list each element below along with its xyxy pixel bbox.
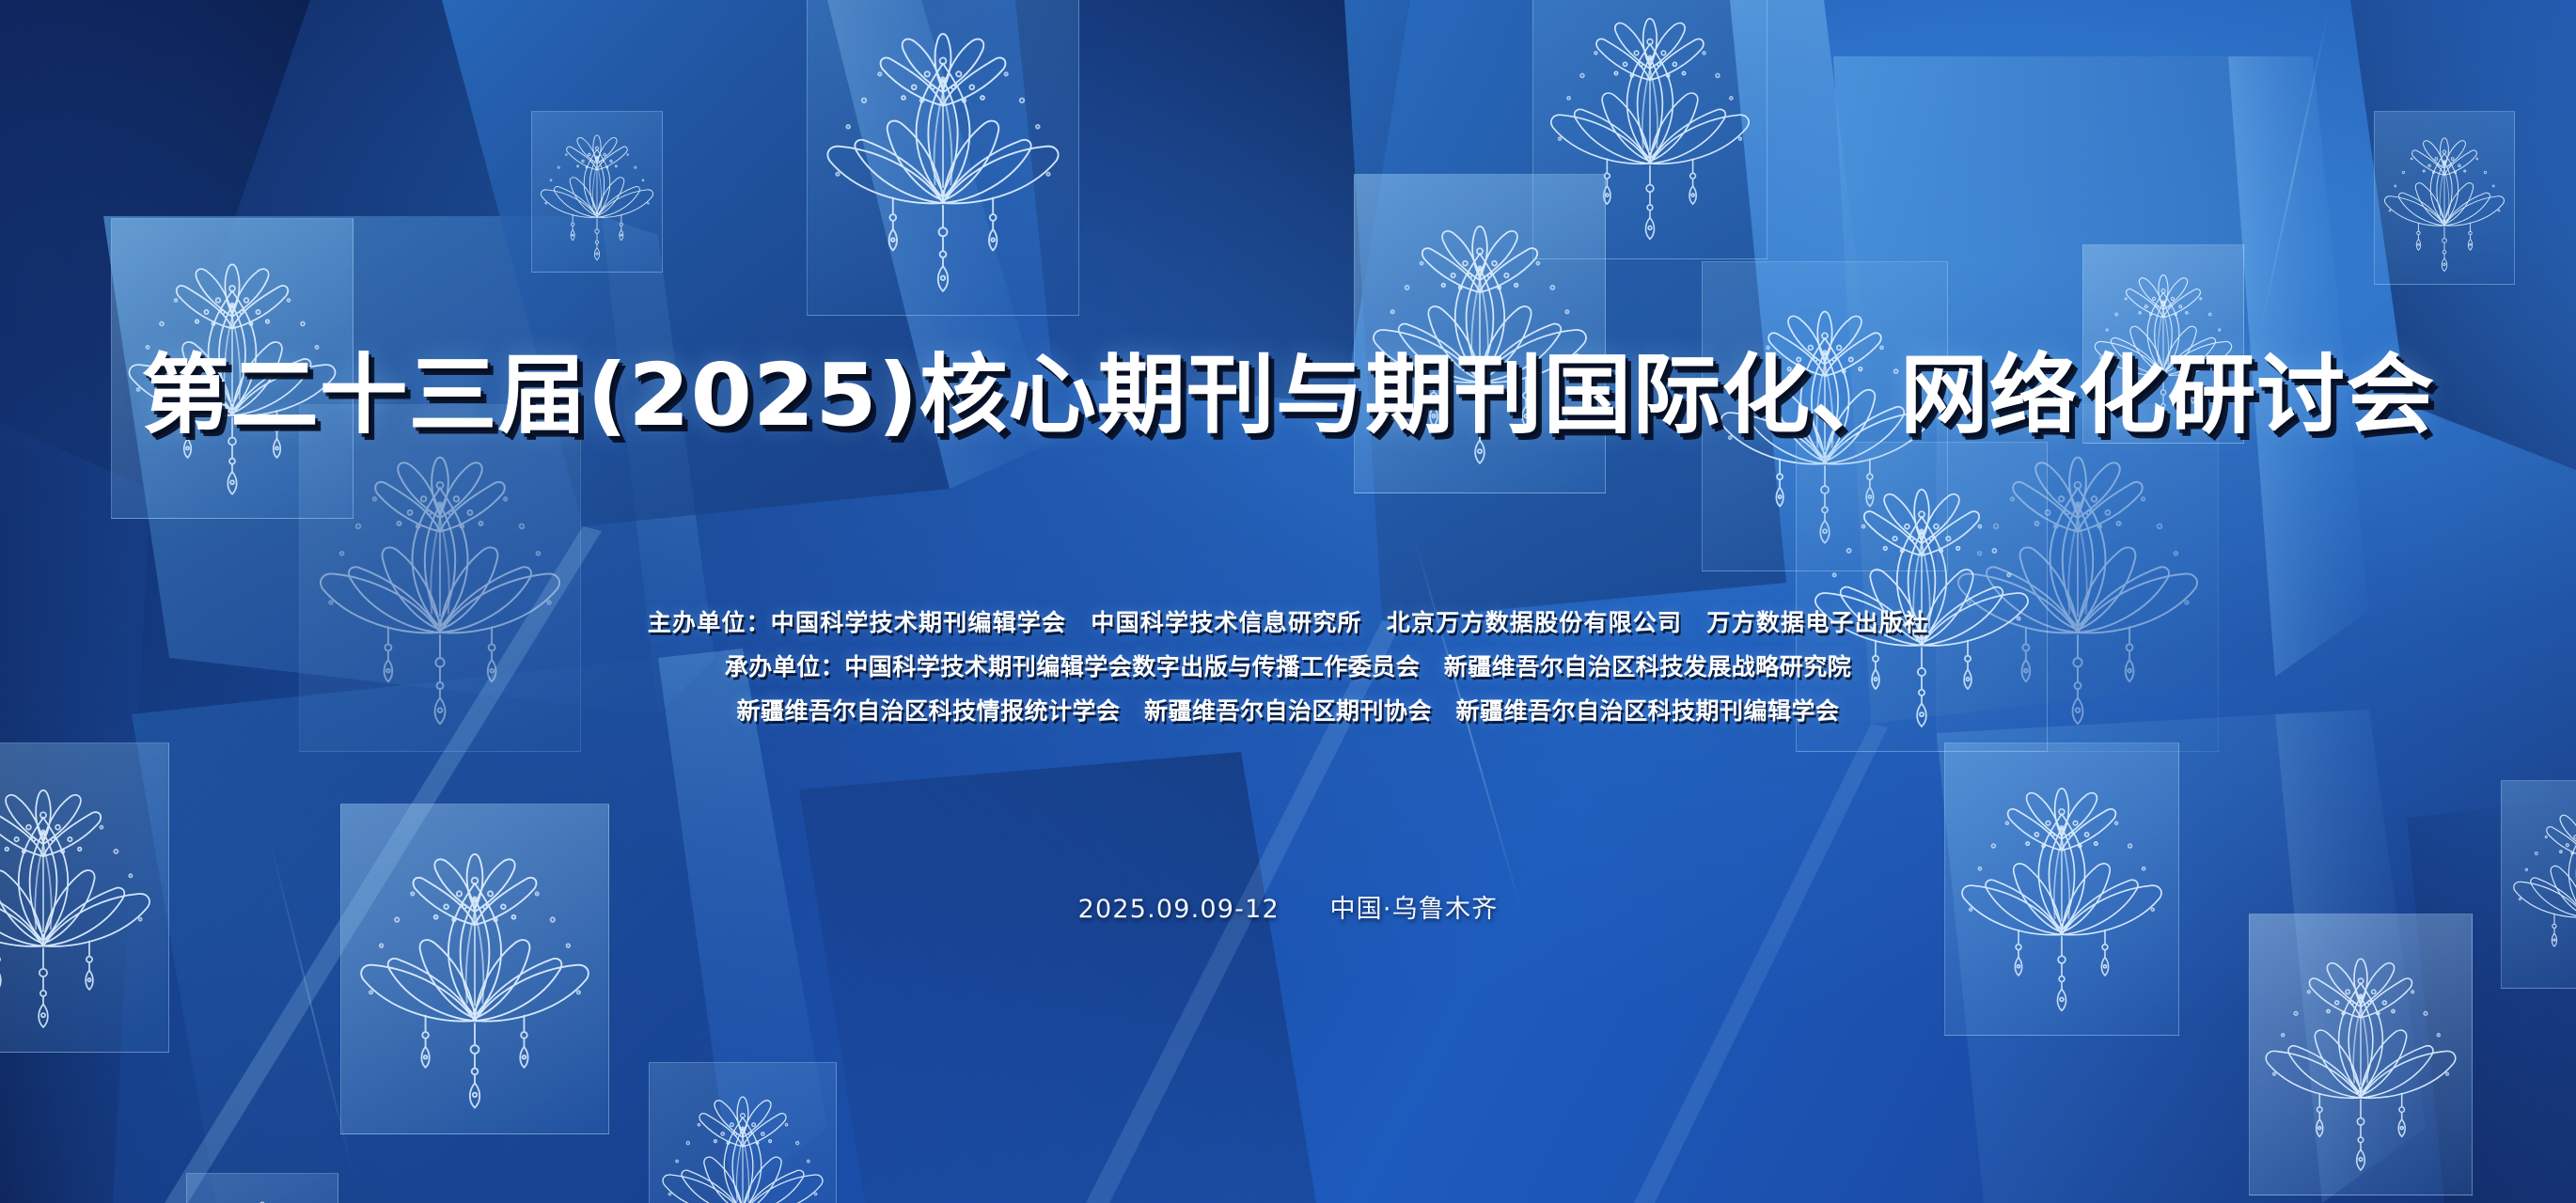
lotus-icon <box>652 1077 834 1203</box>
lotus-icon <box>533 121 661 262</box>
lotus-tile <box>531 111 663 273</box>
organizer-line-host: 主办单位：中国科学技术期刊编辑学会 中国科学技术信息研究所 北京万方数据股份有限… <box>0 611 2576 634</box>
lotus-tile <box>2249 914 2473 1195</box>
lotus-tile <box>2501 780 2576 989</box>
conference-location: 中国·乌鲁木齐 <box>1329 895 1498 924</box>
organizer-line-undertaker: 承办单位：中国科学技术期刊编辑学会数字出版与传播工作委员会 新疆维吾尔自治区科技… <box>0 655 2576 679</box>
date-location-block: 2025.09.09-12 中国·乌鲁木齐 <box>0 888 2576 925</box>
organizers-block: 主办单位：中国科学技术期刊编辑学会 中国科学技术信息研究所 北京万方数据股份有限… <box>0 611 2576 743</box>
organizer-line-undertaker-cont: 新疆维吾尔自治区科技情报统计学会 新疆维吾尔自治区期刊协会 新疆维吾尔自治区科技… <box>0 699 2576 723</box>
lotus-tile <box>2374 111 2515 285</box>
lotus-tile <box>186 1173 338 1203</box>
lotus-icon <box>2253 935 2469 1174</box>
lotus-icon <box>811 6 1075 295</box>
lotus-tile <box>1354 174 1606 493</box>
lotus-icon <box>189 1186 336 1203</box>
lotus-tile <box>340 804 609 1134</box>
lotus-icon <box>345 826 605 1112</box>
conference-banner: 第二十三届(2025)核心期刊与期刊国际化、网络化研讨会 主办单位：中国科学技术… <box>0 0 2576 1203</box>
conference-date: 2025.09.09-12 <box>1078 895 1280 924</box>
lotus-tile <box>807 0 1079 316</box>
lotus-tile <box>649 1062 837 1203</box>
lotus-icon <box>2504 794 2576 975</box>
lotus-icon <box>1359 200 1601 468</box>
lotus-icon <box>2377 123 2513 273</box>
